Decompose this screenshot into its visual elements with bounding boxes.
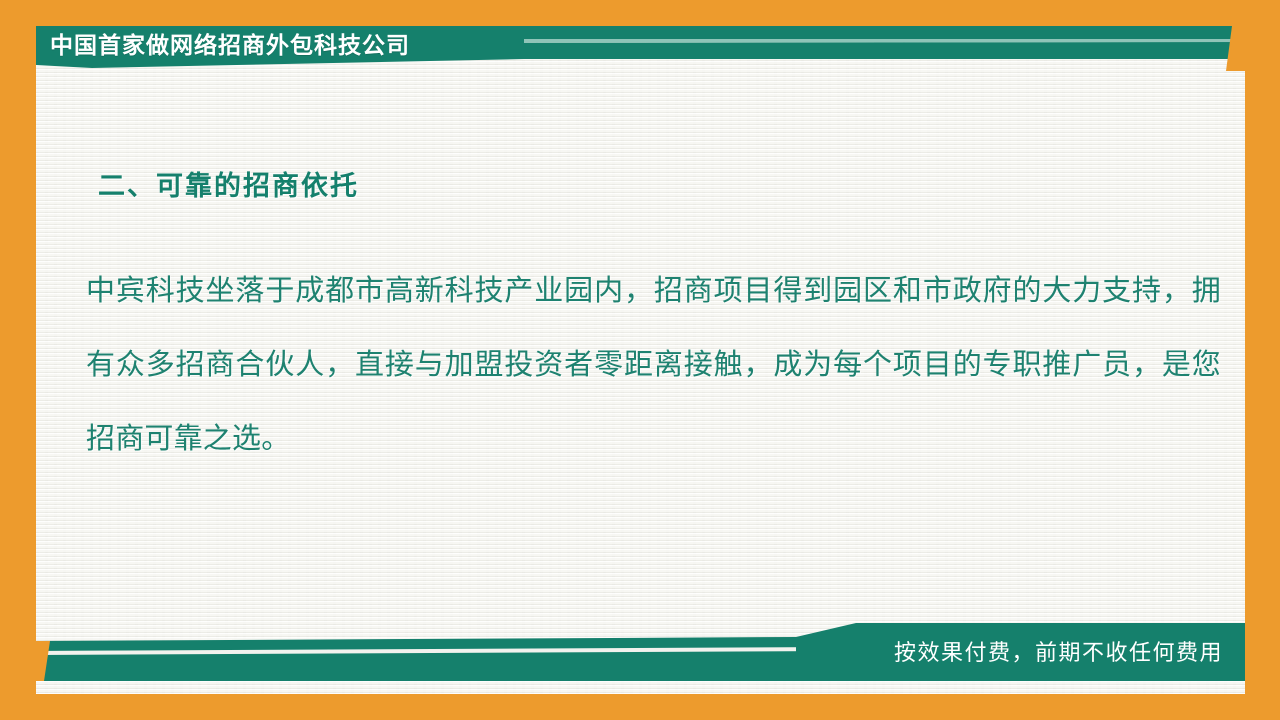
footer-tagline: 按效果付费，前期不收任何费用	[894, 635, 1223, 667]
section-title: 二、可靠的招商依托	[98, 164, 359, 203]
header-hairline	[524, 39, 1245, 43]
header-right-notch	[1226, 26, 1245, 71]
header-title-label: 中国首家做网络招商外包科技公司	[50, 34, 410, 57]
body-paragraph: 中宾科技坐落于成都市高新科技产业园内，招商项目得到园区和市政府的大力支持，拥有众…	[86, 254, 1221, 476]
header-strip-upper	[506, 26, 1245, 39]
footer-left-wedge	[36, 641, 50, 681]
header-title-container: 中国首家做网络招商外包科技公司	[36, 26, 410, 65]
slide-root: 二、可靠的招商依托 中宾科技坐落于成都市高新科技产业园内，招商项目得到园区和市政…	[0, 0, 1280, 720]
header-strip-lower	[518, 42, 1245, 59]
footer-strip-upper	[36, 637, 796, 651]
content-panel: 二、可靠的招商依托 中宾科技坐落于成都市高新科技产业园内，招商项目得到园区和市政…	[36, 26, 1245, 694]
